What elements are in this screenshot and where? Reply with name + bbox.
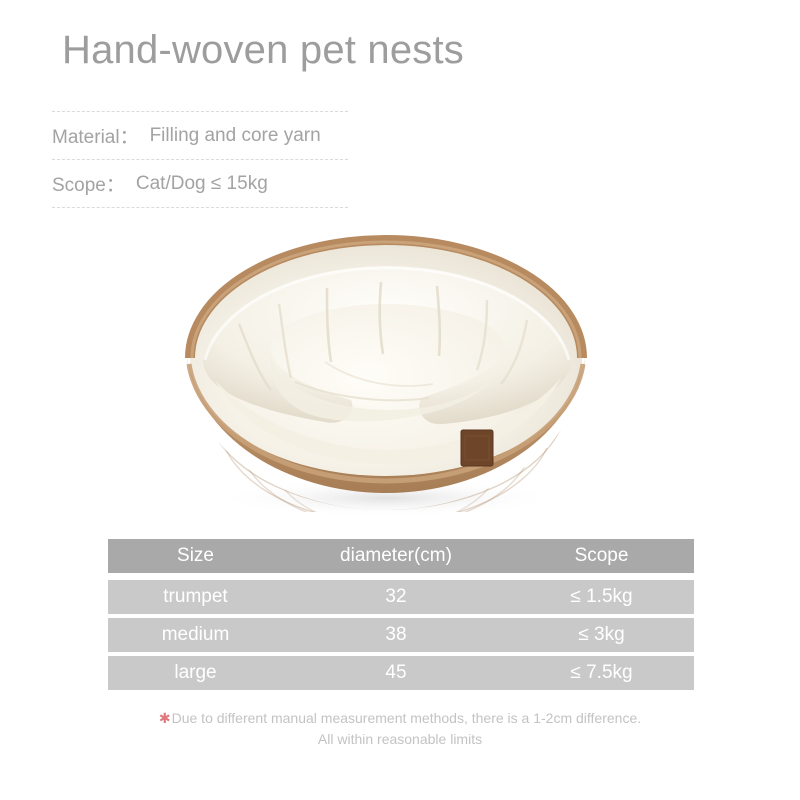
table-cell-size: medium [108, 624, 283, 646]
size-table: Size diameter(cm) Scope trumpet 32 ≤ 1.5… [108, 539, 694, 690]
pet-nest-illustration [175, 212, 595, 522]
table-cell-size: large [108, 662, 283, 684]
table-cell-size: trumpet [108, 586, 283, 608]
table-header-diameter: diameter(cm) [283, 545, 509, 567]
spec-label-scope: Scope： [52, 170, 125, 197]
spec-divider-bottom [52, 207, 348, 208]
product-image [175, 212, 595, 522]
table-header-size: Size [108, 545, 283, 567]
table-cell-scope: ≤ 7.5kg [509, 662, 694, 684]
table-cell-diameter: 38 [283, 624, 509, 646]
table-cell-scope: ≤ 3kg [509, 624, 694, 646]
spec-list: Material： Filling and core yarn Scope： C… [52, 111, 348, 208]
spec-row-scope: Scope： Cat/Dog ≤ 15kg [52, 160, 348, 207]
leather-brand-tag [461, 430, 493, 466]
footnote: ✱Due to different manual measurement met… [100, 708, 700, 750]
spec-value-material: Filling and core yarn [150, 125, 321, 147]
spec-row-material: Material： Filling and core yarn [52, 112, 348, 159]
footnote-line-1: Due to different manual measurement meth… [172, 710, 642, 726]
spec-label-material: Material： [52, 122, 139, 149]
asterisk-icon: ✱ [159, 710, 171, 726]
table-row: trumpet 32 ≤ 1.5kg [108, 580, 694, 614]
table-cell-diameter: 32 [283, 586, 509, 608]
table-row: medium 38 ≤ 3kg [108, 618, 694, 652]
table-header-row: Size diameter(cm) Scope [108, 539, 694, 573]
table-row: large 45 ≤ 7.5kg [108, 656, 694, 690]
table-cell-scope: ≤ 1.5kg [509, 586, 694, 608]
page-title: Hand-woven pet nests [62, 28, 464, 73]
table-header-scope: Scope [509, 545, 694, 567]
spec-value-scope: Cat/Dog ≤ 15kg [136, 173, 268, 195]
footnote-line-2: All within reasonable limits [100, 729, 700, 750]
table-cell-diameter: 45 [283, 662, 509, 684]
